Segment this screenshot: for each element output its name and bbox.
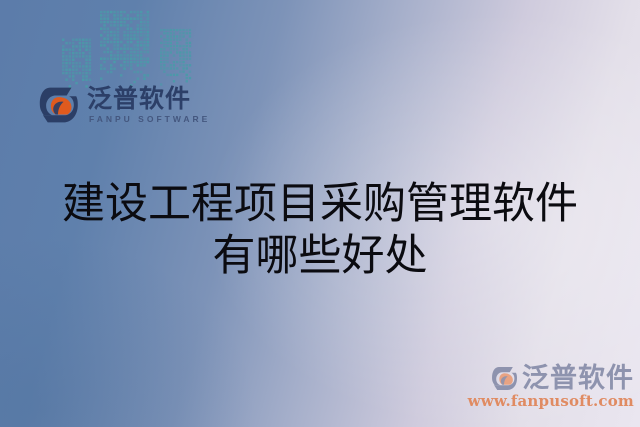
center-building-icon [100,10,150,92]
brand-name-en: FANPU SOFTWARE [89,115,210,124]
watermark: 泛普软件 www.fanpusoft.com [468,365,634,409]
watermark-row: 泛普软件 [468,365,634,392]
watermark-url: www.fanpusoft.com [468,394,634,409]
page-title-line-1: 建设工程项目采购管理软件 [0,178,640,230]
fanpu-watermark-mark-icon [491,366,517,391]
brand-logo: 泛普软件 FANPU SOFTWARE [38,86,210,124]
poster-canvas: 泛普软件 FANPU SOFTWARE 建设工程项目采购管理软件 有哪些好处 泛… [0,0,640,427]
page-title: 建设工程项目采购管理软件 有哪些好处 [0,178,640,283]
watermark-brand-name: 泛普软件 [522,365,634,392]
fanpu-logo-mark-icon [38,86,78,124]
page-title-line-2: 有哪些好处 [0,230,640,282]
brand-name-cn: 泛普软件 [87,86,210,112]
brand-logo-wordmark: 泛普软件 FANPU SOFTWARE [87,86,210,124]
pixel-city-decoration [62,0,192,92]
right-building-icon [160,27,192,92]
